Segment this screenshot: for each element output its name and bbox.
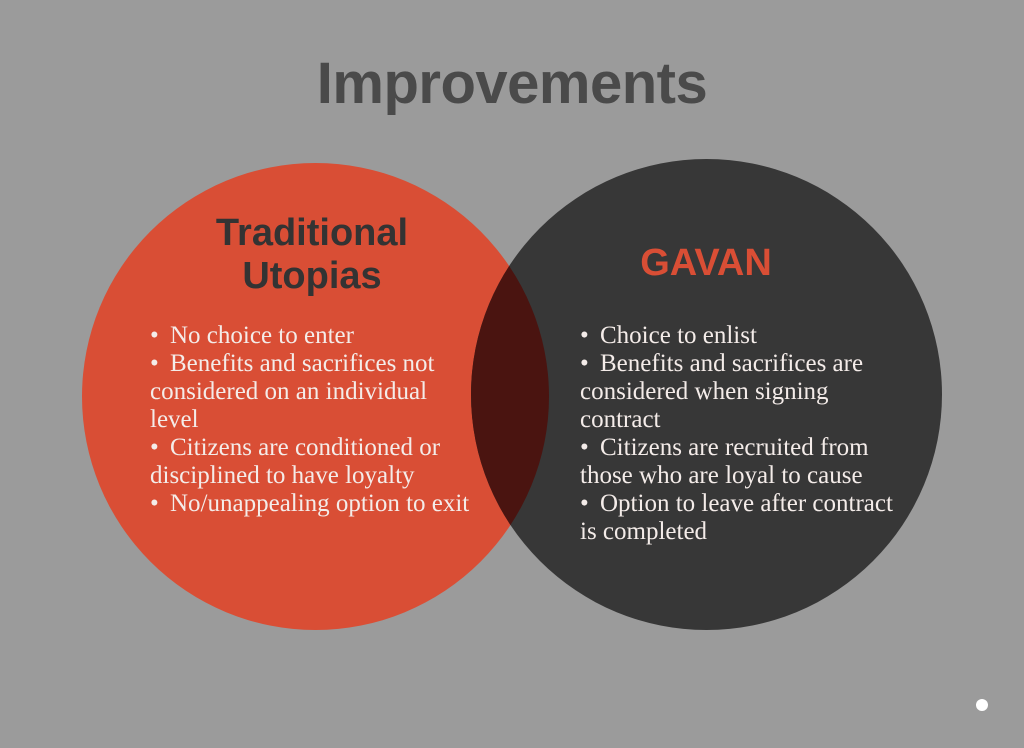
list-item-label: Option to leave after contract is comple… <box>580 490 893 545</box>
list-item: •No/unappealing option to exit <box>150 490 470 518</box>
list-item-label: No/unappealing option to exit <box>170 490 469 517</box>
list-item: •No choice to enter <box>150 322 470 350</box>
bullet-marker-icon: • <box>150 434 170 462</box>
list-item: •Citizens are recruited from those who a… <box>580 434 910 490</box>
list-item-label: Choice to enlist <box>600 322 757 349</box>
bullet-marker-icon: • <box>150 350 170 378</box>
list-item-label: Citizens are conditioned or disciplined … <box>150 434 440 489</box>
bullet-marker-icon: • <box>580 434 600 462</box>
list-item: •Citizens are conditioned or disciplined… <box>150 434 470 490</box>
venn-right-bullet-list: •Choice to enlist •Benefits and sacrific… <box>580 322 910 546</box>
list-item-label: Citizens are recruited from those who ar… <box>580 434 869 489</box>
slide-canvas: Improvements Traditional Utopias GAVAN •… <box>0 0 1024 748</box>
bullet-marker-icon: • <box>580 322 600 350</box>
list-item: •Benefits and sacrifices are considered … <box>580 350 910 434</box>
page-indicator-dot[interactable] <box>976 699 988 711</box>
list-item-label: No choice to enter <box>170 322 354 349</box>
list-item-label: Benefits and sacrifices are considered w… <box>580 350 863 433</box>
venn-left-bullet-list: •No choice to enter •Benefits and sacrif… <box>150 322 470 518</box>
list-item: •Benefits and sacrifices not considered … <box>150 350 470 434</box>
list-item: •Choice to enlist <box>580 322 910 350</box>
bullet-marker-icon: • <box>150 322 170 350</box>
bullet-marker-icon: • <box>580 490 600 518</box>
bullet-marker-icon: • <box>150 490 170 518</box>
bullet-marker-icon: • <box>580 350 600 378</box>
venn-right-heading: GAVAN <box>560 242 852 285</box>
list-item: •Option to leave after contract is compl… <box>580 490 910 546</box>
list-item-label: Benefits and sacrifices not considered o… <box>150 350 435 433</box>
venn-left-heading: Traditional Utopias <box>150 212 474 297</box>
